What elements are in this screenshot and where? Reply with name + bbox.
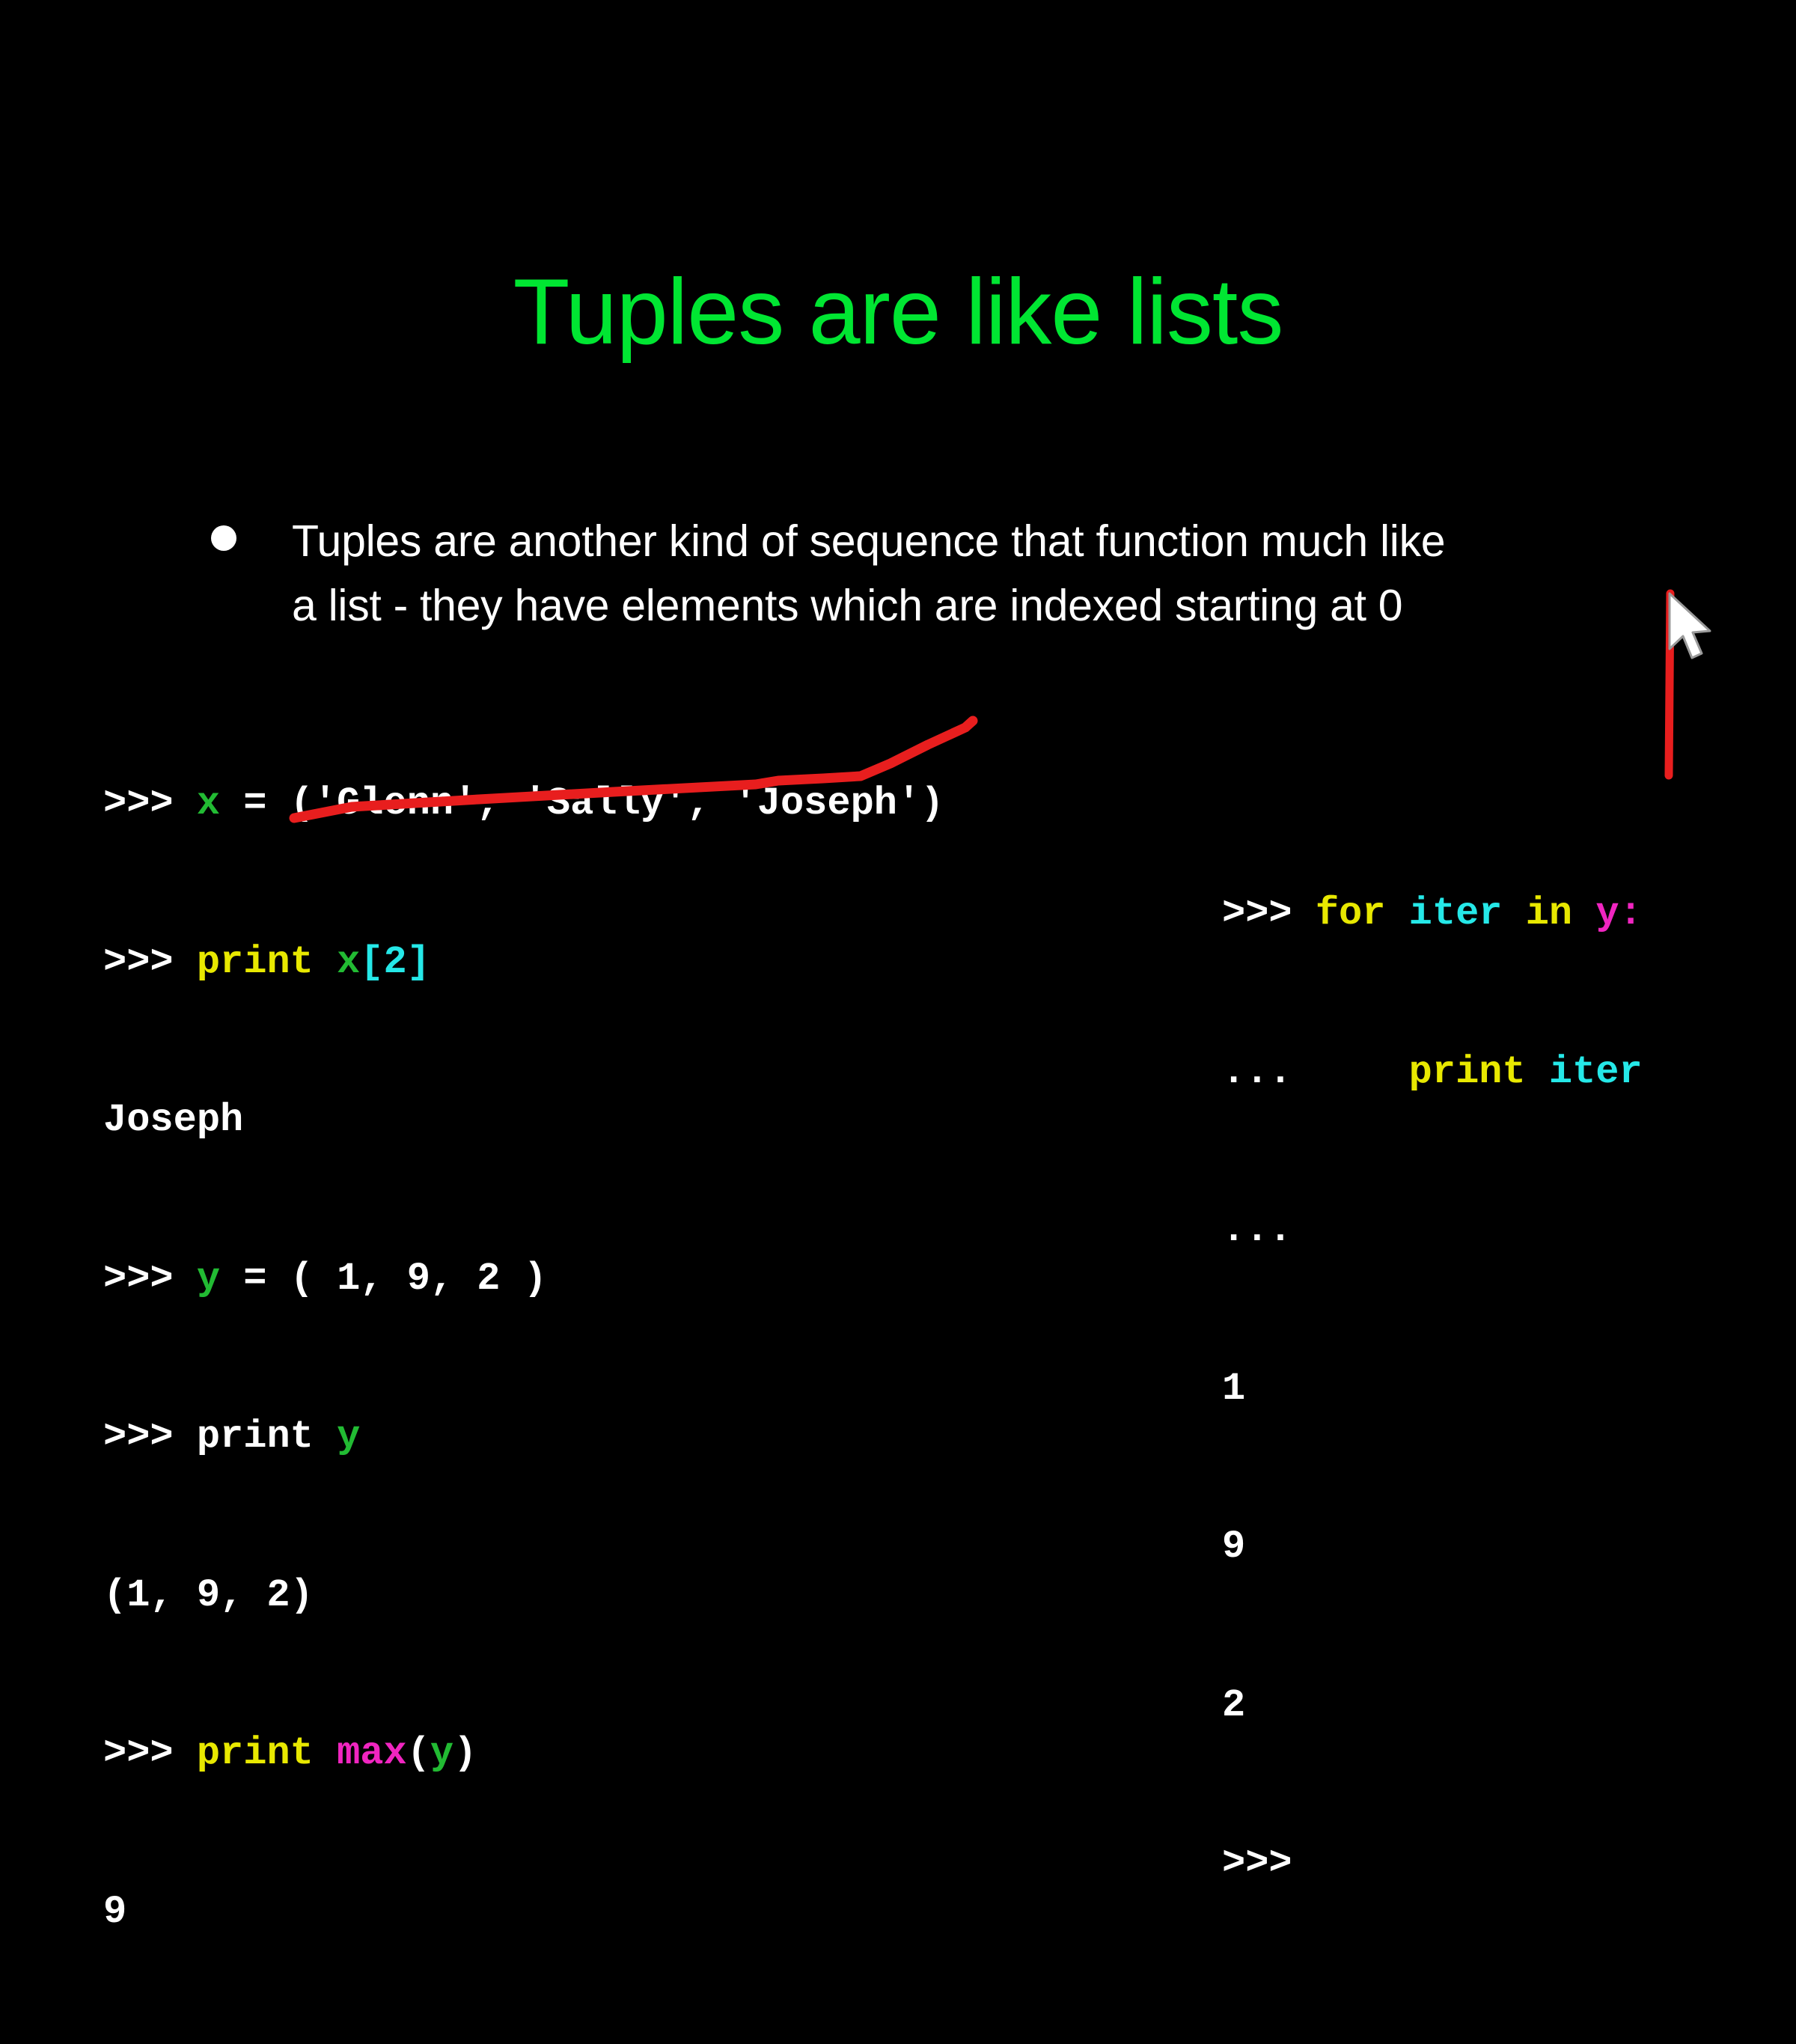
- keyword-token: print: [1409, 1050, 1549, 1094]
- prompt-token: >>>: [1222, 891, 1316, 936]
- code-output-line: (1, 9, 2): [103, 1569, 944, 1623]
- keyword-token: print: [197, 940, 314, 984]
- prompt-token: >>>: [103, 1257, 197, 1301]
- output-token: (1, 9, 2): [103, 1573, 314, 1617]
- variable-token: y: [197, 1257, 220, 1301]
- code-output-line: 2: [1222, 1680, 1643, 1733]
- code-line: >>> for iter in y:: [1222, 888, 1643, 941]
- builtin-token: max: [337, 1731, 407, 1775]
- bullet-text: Tuples are another kind of sequence that…: [292, 509, 1445, 638]
- output-token: Joseph: [103, 1098, 243, 1142]
- target-token: y:: [1595, 891, 1642, 936]
- code-token: = ('Glenn', 'Sally', 'Joseph'): [220, 781, 944, 826]
- output-token: 9: [103, 1890, 126, 1934]
- presentation-slide: Tuples are like lists Tuples are another…: [0, 0, 1796, 1347]
- page-title: Tuples are like lists: [0, 263, 1796, 361]
- variable-token: y: [430, 1731, 453, 1775]
- output-token: 2: [1222, 1683, 1245, 1727]
- bullet-list: Tuples are another kind of sequence that…: [211, 509, 1633, 638]
- code-line: >>> print max(y): [103, 1727, 944, 1781]
- code-line: >>> print x[2]: [103, 936, 944, 989]
- prompt-token: >>>: [1222, 1841, 1292, 1885]
- bullet-line-1: Tuples are another kind of sequence that…: [292, 516, 1445, 566]
- keyword-token: in: [1502, 891, 1595, 936]
- identifier-token: iter: [1549, 1050, 1643, 1094]
- code-line: >>> print y: [103, 1411, 944, 1464]
- code-line: >>>: [1222, 1837, 1643, 1891]
- index-token: [2]: [360, 940, 430, 984]
- keyword-token: print: [197, 1731, 337, 1775]
- bullet-dot-icon: [211, 525, 236, 551]
- code-output-line: 9: [103, 1886, 944, 1939]
- code-line: >>> x = ('Glenn', 'Sally', 'Joseph'): [103, 778, 944, 831]
- space-token: [314, 940, 337, 984]
- variable-token: y: [337, 1415, 360, 1459]
- code-token: = ( 1, 9, 2 ): [220, 1257, 547, 1301]
- output-token: 1: [1222, 1367, 1245, 1411]
- prompt-token: >>>: [103, 1415, 197, 1459]
- variable-token: x: [337, 940, 360, 984]
- code-line: ...: [1222, 1204, 1643, 1257]
- paren-token: (: [407, 1731, 430, 1775]
- bullet-line-2: a list - they have elements which are in…: [292, 581, 1402, 630]
- prompt-token: ...: [1222, 1208, 1292, 1252]
- code-output-line: Joseph: [103, 1094, 944, 1147]
- code-output-line: 9: [1222, 1521, 1643, 1574]
- prompt-token: >>>: [103, 940, 197, 984]
- identifier-token: iter: [1409, 891, 1503, 936]
- mouse-pointer-arrow: [1670, 594, 1710, 658]
- code-console-right: >>> for iter in y: ... print iter ... 1 …: [1222, 782, 1643, 1996]
- red-ink-vertical-line: [1669, 594, 1670, 775]
- indent-token: [1316, 1050, 1409, 1094]
- list-item: Tuples are another kind of sequence that…: [211, 509, 1633, 638]
- code-console-left: >>> x = ('Glenn', 'Sally', 'Joseph') >>>…: [103, 672, 944, 2044]
- keyword-token: for: [1316, 891, 1409, 936]
- code-output-line: 1: [1222, 1363, 1643, 1416]
- output-token: 9: [1222, 1525, 1245, 1569]
- code-token: print: [197, 1415, 337, 1459]
- variable-token: x: [197, 781, 220, 826]
- prompt-token: >>>: [103, 1731, 197, 1775]
- code-line: >>> y = ( 1, 9, 2 ): [103, 1253, 944, 1306]
- prompt-token: ...: [1222, 1050, 1316, 1094]
- code-line: ... print iter: [1222, 1046, 1643, 1099]
- prompt-token: >>>: [103, 781, 197, 826]
- paren-token: ): [453, 1731, 477, 1775]
